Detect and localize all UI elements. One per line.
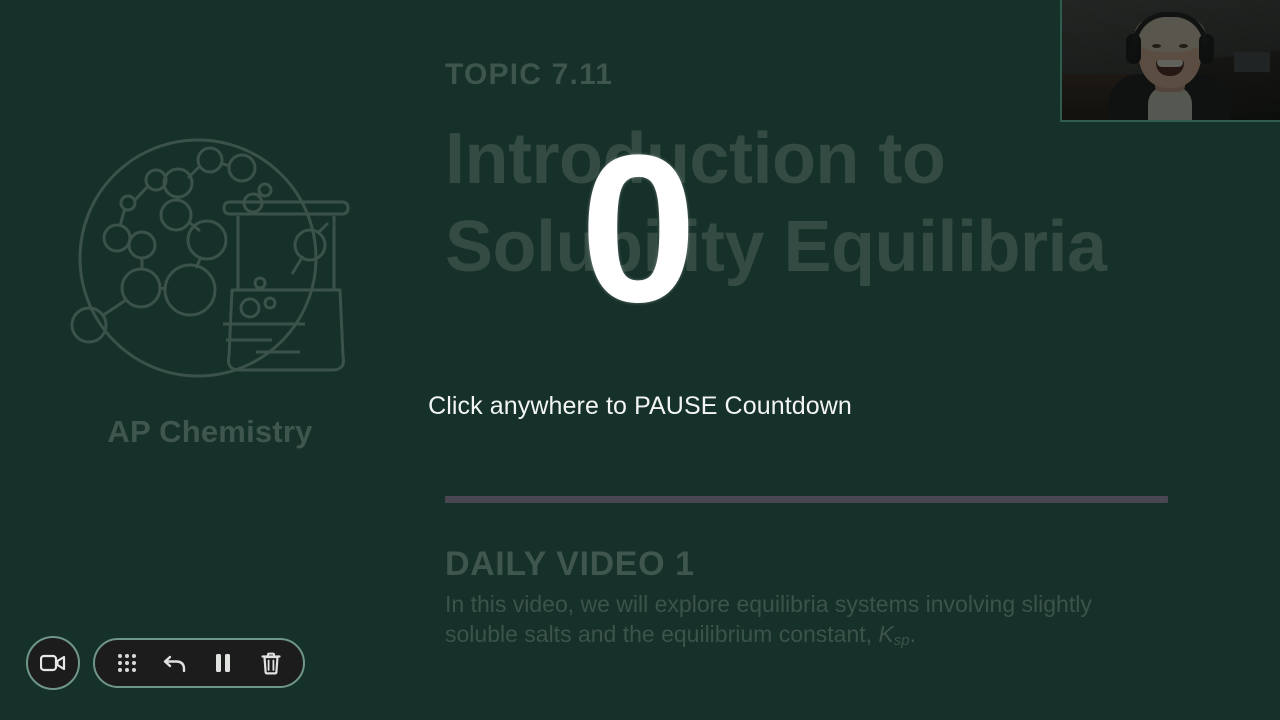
description-lead: In this video, we will explore equilibri… xyxy=(445,591,1092,647)
recorder-toolbar xyxy=(26,636,305,690)
undo-button[interactable] xyxy=(160,648,190,678)
video-camera-icon xyxy=(40,654,66,672)
webcam-video-frame xyxy=(1060,0,1280,122)
trash-icon xyxy=(260,652,282,675)
undo-icon xyxy=(163,652,187,674)
ksp-subscript: sp xyxy=(894,632,910,649)
countdown-hint: Click anywhere to PAUSE Countdown xyxy=(0,392,1280,421)
section-divider xyxy=(445,496,1168,503)
delete-button[interactable] xyxy=(256,648,286,678)
daily-video-heading: DAILY VIDEO 1 xyxy=(445,546,1155,583)
video-description-block: DAILY VIDEO 1 In this video, we will exp… xyxy=(445,546,1155,650)
pause-button[interactable] xyxy=(208,648,238,678)
video-description-text: In this video, we will explore equilibri… xyxy=(445,590,1145,650)
video-player-stage: AP Chemistry TOPIC 7.11 Introduction to … xyxy=(0,0,1280,720)
presenter-webcam[interactable] xyxy=(1060,0,1280,122)
toolbar-control-pill xyxy=(93,638,305,688)
video-camera-button[interactable] xyxy=(26,636,80,690)
drag-handle[interactable] xyxy=(112,648,142,678)
drag-handle-icon xyxy=(118,654,136,672)
description-trail: . xyxy=(910,621,916,647)
pause-icon xyxy=(214,652,232,674)
countdown-digit: 0 xyxy=(580,147,697,311)
ksp-symbol: K xyxy=(878,621,893,647)
